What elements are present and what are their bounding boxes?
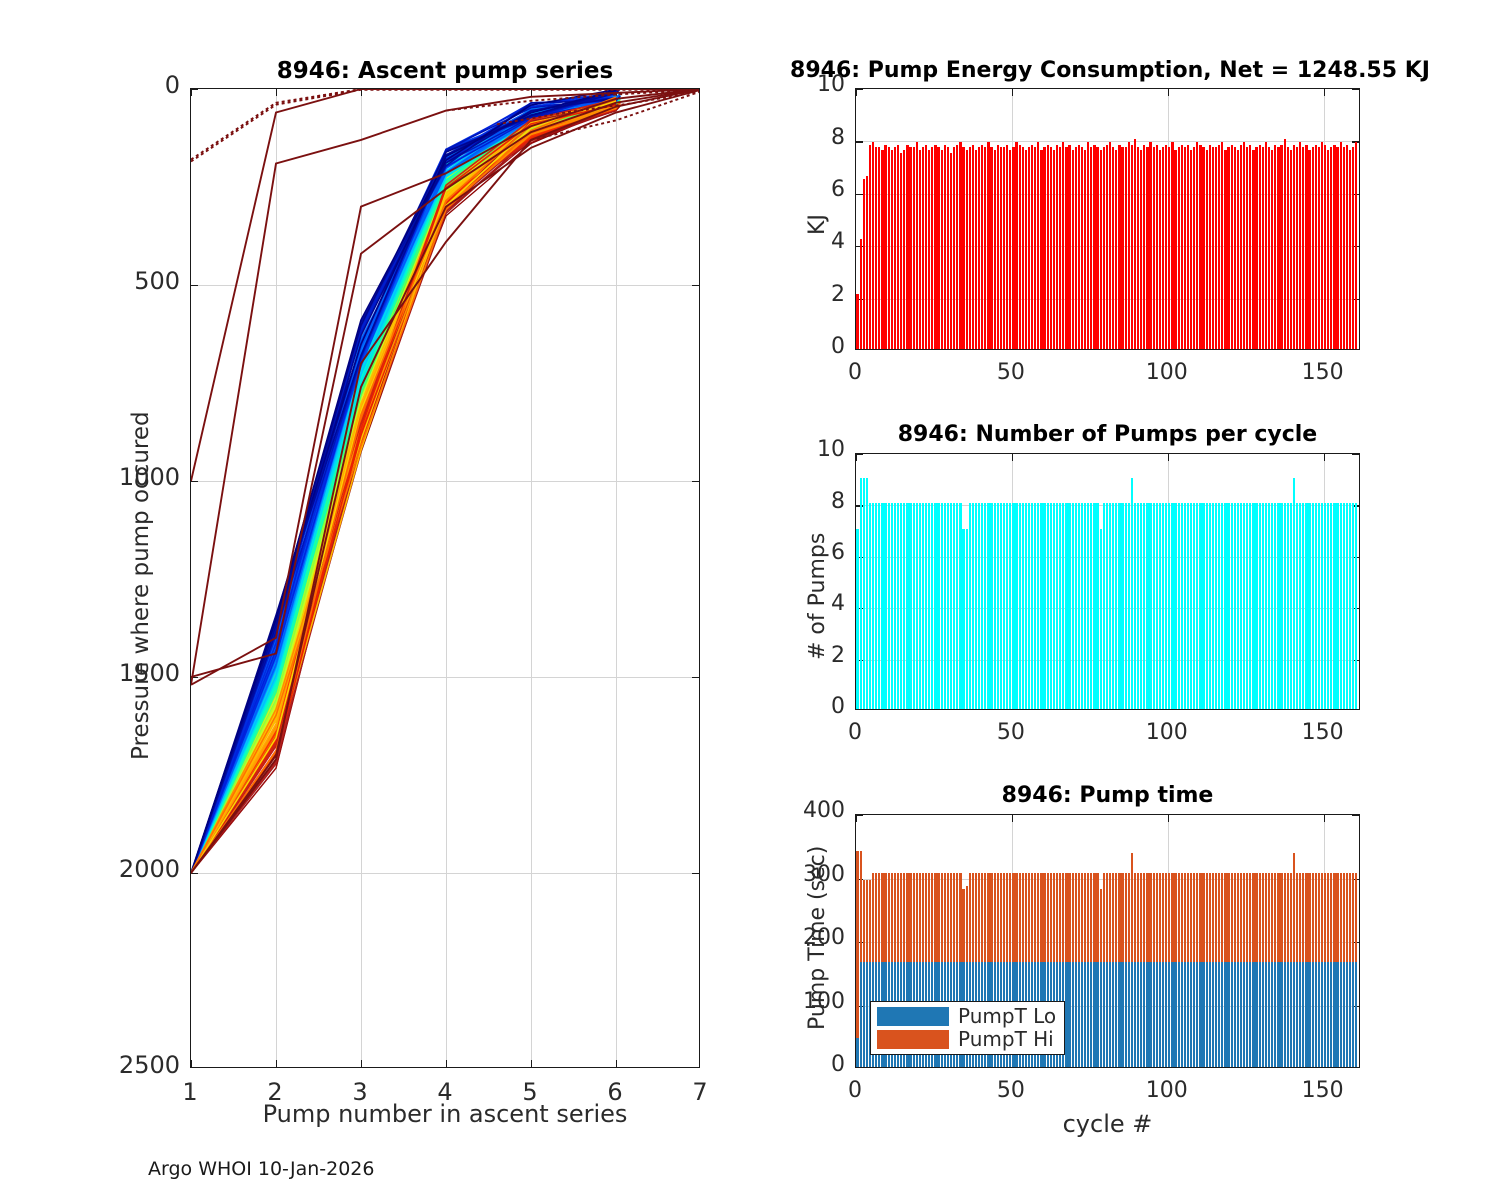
time-bar [1324, 873, 1326, 1067]
pumps-bar [897, 503, 899, 709]
time-bar [860, 851, 862, 1067]
energy-bar [1131, 145, 1133, 349]
pumps-bar [994, 503, 996, 709]
time-bar-segment-hi [1246, 873, 1248, 962]
pumps-bar [1103, 503, 1105, 709]
time-bar [1121, 873, 1123, 1067]
time-bar-segment-lo [1087, 962, 1089, 1067]
energy-bar [928, 150, 930, 349]
pumps-bar [1352, 503, 1354, 709]
time-bar-segment-hi [1171, 873, 1173, 962]
energy-bar [860, 239, 862, 349]
energy-bar [1015, 142, 1017, 349]
energy-bar [888, 147, 890, 349]
pumps-bar [1296, 503, 1298, 709]
pumps-bar [872, 503, 874, 709]
pumps-bar [1140, 503, 1142, 709]
time-bar [1259, 873, 1261, 1067]
pumps-bar [1227, 503, 1229, 709]
ascent-ytick-label: 0 [60, 71, 180, 99]
time-bar-segment-lo [866, 962, 868, 1067]
time-bar-segment-lo [1143, 962, 1145, 1067]
pumps-bar [1109, 503, 1111, 709]
time-xlabel: cycle # [855, 1110, 1360, 1138]
energy-bar [1196, 142, 1198, 349]
time-bar-segment-lo [1249, 962, 1251, 1067]
time-bar-segment-lo [1234, 962, 1236, 1067]
time-bar-segment-hi [1134, 873, 1136, 962]
time-bar [1321, 873, 1323, 1067]
time-bar [1277, 873, 1279, 1067]
time-bar-segment-lo [1280, 962, 1282, 1067]
time-bar [1274, 873, 1276, 1067]
time-bar-segment-lo [1187, 962, 1189, 1067]
energy-bar [1199, 145, 1201, 349]
pumps-bar [1305, 503, 1307, 709]
energy-bar [1146, 147, 1148, 349]
time-bar-segment-hi [1006, 873, 1008, 962]
pumps-bar [1084, 503, 1086, 709]
energy-bar [1031, 145, 1033, 349]
pumps-bar [1206, 503, 1208, 709]
time-bar [1153, 873, 1155, 1067]
energy-ytick-label: 8 [725, 125, 845, 150]
time-bar [1315, 873, 1317, 1067]
time-bar-segment-hi [1065, 873, 1067, 962]
ascent-ytick-label: 1000 [60, 463, 180, 491]
time-bar-segment-hi [981, 873, 983, 962]
legend-row-pumpt-lo[interactable]: PumpT Lo [877, 1007, 1056, 1026]
time-bar [1178, 873, 1180, 1067]
energy-bar [1187, 145, 1189, 349]
pumps-bar [878, 503, 880, 709]
time-bar-segment-hi [1140, 873, 1142, 962]
time-bar-segment-hi [1221, 873, 1223, 962]
time-bar-segment-hi [928, 873, 930, 962]
time-bar-segment-hi [934, 873, 936, 962]
pumps-plot-area[interactable] [855, 453, 1360, 710]
time-bar-segment-hi [1274, 873, 1276, 962]
time-bar-segment-lo [1333, 962, 1335, 1067]
time-bar-segment-lo [1299, 962, 1301, 1067]
time-bar-segment-hi [944, 873, 946, 962]
time-bar-segment-lo [1118, 962, 1120, 1067]
time-bar-segment-hi [1181, 873, 1183, 962]
pumps-bar [1274, 503, 1276, 709]
pumps-bar [1249, 503, 1251, 709]
time-bar [866, 880, 868, 1067]
energy-bar [1081, 147, 1083, 349]
energy-bar [913, 147, 915, 349]
pumps-bar [1137, 503, 1139, 709]
time-bar [1078, 873, 1080, 1067]
energy-bar [1078, 145, 1080, 349]
time-bar-segment-hi [1015, 873, 1017, 962]
time-bar [1333, 873, 1335, 1067]
time-bar-segment-hi [1081, 873, 1083, 962]
pumps-bar [984, 503, 986, 709]
time-bar [1171, 873, 1173, 1067]
time-bar [856, 851, 858, 1067]
time-bar-segment-lo [1165, 962, 1167, 1067]
time-bar-segment-hi [1043, 873, 1045, 962]
energy-bar [1202, 147, 1204, 349]
time-bar [1143, 873, 1145, 1067]
time-bar [1249, 873, 1251, 1067]
energy-bar [969, 147, 971, 349]
energy-bar [1240, 145, 1242, 349]
energy-bar [966, 150, 968, 349]
energy-bar [1355, 142, 1357, 349]
pumps-bar [1262, 503, 1264, 709]
pumps-bar [1312, 503, 1314, 709]
energy-plot-area[interactable] [855, 88, 1360, 350]
time-bar-segment-lo [1259, 962, 1261, 1067]
pumps-bar [1246, 503, 1248, 709]
pumps-bar [1159, 503, 1161, 709]
ascent-profile-line [191, 89, 700, 481]
pumps-ytick-label: 8 [725, 489, 845, 514]
time-bar-segment-hi [903, 873, 905, 962]
time-bar-segment-hi [860, 851, 862, 962]
pump-time-legend[interactable]: PumpT Lo PumpT Hi [870, 1001, 1065, 1055]
time-bar-segment-hi [1112, 873, 1114, 962]
energy-bar [1068, 145, 1070, 349]
time-bar-segment-hi [997, 873, 999, 962]
time-bar-segment-lo [1202, 962, 1204, 1067]
time-bar-segment-lo [1206, 962, 1208, 1067]
time-bar-segment-hi [1178, 873, 1180, 962]
pumps-bar [1034, 503, 1036, 709]
energy-bar [1065, 147, 1067, 349]
pumps-bar [881, 503, 883, 709]
energy-bar [1112, 147, 1114, 349]
time-bar-segment-hi [909, 873, 911, 962]
pumps-bar [863, 478, 865, 709]
time-bar [1159, 873, 1161, 1067]
legend-swatch-pumpt-hi [877, 1030, 949, 1049]
pumps-bar [1037, 503, 1039, 709]
time-bar [1134, 873, 1136, 1067]
pumps-bar [1050, 503, 1052, 709]
time-bar-segment-hi [1308, 873, 1310, 962]
time-bar [1165, 873, 1167, 1067]
pumps-bar [1343, 503, 1345, 709]
time-bar-segment-lo [1100, 962, 1102, 1067]
pumps-bar [1090, 503, 1092, 709]
pumps-bar [913, 503, 915, 709]
pumps-bar [900, 503, 902, 709]
energy-bar [1268, 147, 1270, 349]
pumps-bar [1327, 503, 1329, 709]
pumps-xtick-label: 50 [971, 720, 1051, 745]
energy-bar [1349, 150, 1351, 349]
time-bar-segment-hi [1312, 873, 1314, 962]
energy-bar [1062, 142, 1064, 349]
time-bar-segment-hi [969, 873, 971, 962]
energy-bar [1212, 147, 1214, 349]
pumps-bar [1209, 503, 1211, 709]
energy-bar [1234, 147, 1236, 349]
time-bar-segment-lo [1115, 962, 1117, 1067]
time-bar-segment-hi [950, 873, 952, 962]
pumps-ytick-label: 6 [725, 540, 845, 565]
ascent-ytick-label: 2500 [60, 1051, 180, 1079]
ascent-xtick-label: 3 [320, 1078, 400, 1106]
time-bar-segment-lo [863, 962, 865, 1067]
time-bar-segment-lo [1305, 962, 1307, 1067]
pumps-bar [869, 503, 871, 709]
pumps-bar [1302, 503, 1304, 709]
ascent-xtick-label: 6 [575, 1078, 655, 1106]
pumps-bar [959, 503, 961, 709]
time-bar-segment-hi [1234, 873, 1236, 962]
time-bar-segment-lo [1209, 962, 1211, 1067]
time-bar-segment-lo [1171, 962, 1173, 1067]
ascent-panel-title: 8946: Ascent pump series [190, 58, 700, 84]
time-bar-segment-hi [1165, 873, 1167, 962]
time-bar [1343, 873, 1345, 1067]
pumps-bar [906, 503, 908, 709]
pumps-bar [1193, 503, 1195, 709]
time-bar-segment-lo [1218, 962, 1220, 1067]
time-bar-segment-lo [1072, 962, 1074, 1067]
time-bar [1327, 873, 1329, 1067]
time-bar-segment-lo [1131, 962, 1133, 1067]
energy-bar [1043, 147, 1045, 349]
energy-bar [1143, 145, 1145, 349]
time-bar-segment-lo [1168, 962, 1170, 1067]
time-bar-segment-hi [1174, 873, 1176, 962]
pumps-bar [966, 529, 968, 709]
time-bar-segment-lo [1068, 962, 1070, 1067]
energy-ytick-label: 6 [725, 177, 845, 202]
time-bar-segment-hi [1106, 873, 1108, 962]
time-bar-segment-lo [1343, 962, 1345, 1067]
time-bar [1087, 873, 1089, 1067]
time-bar-segment-lo [1215, 962, 1217, 1067]
pumps-bar [975, 503, 977, 709]
energy-bar [1312, 147, 1314, 349]
pumps-bar [1019, 503, 1021, 709]
time-bar-segment-hi [1143, 873, 1145, 962]
time-bar-segment-hi [1168, 873, 1170, 962]
time-bar-segment-hi [1280, 873, 1282, 962]
time-bar-segment-hi [897, 873, 899, 962]
time-bar-segment-hi [1019, 873, 1021, 962]
energy-bar [1174, 150, 1176, 349]
energy-bar [1327, 150, 1329, 349]
pumps-bar [1184, 503, 1186, 709]
time-bar-segment-lo [1265, 962, 1267, 1067]
pumps-panel-title: 8946: Number of Pumps per cycle [855, 422, 1360, 447]
time-bar-segment-hi [1025, 873, 1027, 962]
time-bar-segment-lo [1352, 962, 1354, 1067]
time-bar-segment-hi [1162, 873, 1164, 962]
energy-bar [1134, 139, 1136, 349]
pumps-bar [1299, 503, 1301, 709]
time-bar [1112, 873, 1114, 1067]
pumps-bar [1053, 503, 1055, 709]
pumps-bar [1252, 503, 1254, 709]
energy-panel-title: 8946: Pump Energy Consumption, Net = 124… [760, 58, 1460, 83]
energy-bar [866, 176, 868, 349]
ascent-plot-area[interactable] [190, 88, 700, 1068]
energy-bar [1109, 142, 1111, 349]
time-bar [1340, 873, 1342, 1067]
energy-bar [1009, 150, 1011, 349]
time-bar-segment-hi [1293, 853, 1295, 962]
energy-bar [1190, 150, 1192, 349]
time-bar-segment-lo [1174, 962, 1176, 1067]
time-bar-segment-lo [1252, 962, 1254, 1067]
ascent-ytick-label: 500 [60, 267, 180, 295]
pumps-bar [1096, 503, 1098, 709]
time-bar-segment-hi [1277, 873, 1279, 962]
pumps-bar [997, 503, 999, 709]
time-bar-segment-lo [1271, 962, 1273, 1067]
time-bar-segment-hi [1059, 873, 1061, 962]
time-bar [1271, 873, 1273, 1067]
pumps-bar [944, 503, 946, 709]
time-bar [1196, 873, 1198, 1067]
time-xtick-label: 0 [815, 1078, 895, 1103]
energy-bar [1284, 139, 1286, 349]
energy-bar [1330, 147, 1332, 349]
time-panel-title: 8946: Pump time [855, 783, 1360, 808]
footer-credit: Argo WHOI 10-Jan-2026 [148, 1158, 374, 1180]
time-ytick-label: 0 [725, 1052, 845, 1077]
time-bar-segment-lo [860, 962, 862, 1067]
time-bar-segment-lo [1162, 962, 1164, 1067]
pumps-ytick-label: 10 [725, 437, 845, 462]
time-bar-segment-lo [1255, 962, 1257, 1067]
time-bar-segment-hi [1156, 873, 1158, 962]
pumps-bar [1290, 503, 1292, 709]
time-bar [1193, 873, 1195, 1067]
time-bar-segment-lo [1128, 962, 1130, 1067]
time-bar-segment-lo [1221, 962, 1223, 1067]
time-bar [1221, 873, 1223, 1067]
energy-bar [1343, 147, 1345, 349]
pumps-bar [1293, 478, 1295, 709]
ascent-xtick-label: 4 [405, 1078, 485, 1106]
time-bar-segment-hi [937, 873, 939, 962]
legend-row-pumpt-hi[interactable]: PumpT Hi [877, 1030, 1056, 1049]
energy-bar [1178, 147, 1180, 349]
pumps-bar [953, 503, 955, 709]
pumps-bar [1234, 503, 1236, 709]
energy-bar [884, 145, 886, 349]
pumps-bar [1062, 503, 1064, 709]
time-bar-segment-hi [1352, 873, 1354, 962]
pumps-bar [1215, 503, 1217, 709]
time-bar [1299, 873, 1301, 1067]
ascent-lines [191, 89, 700, 1068]
time-bar [1081, 873, 1083, 1067]
time-bar-segment-hi [1209, 873, 1211, 962]
energy-bar [1231, 145, 1233, 349]
time-bar-segment-hi [978, 873, 980, 962]
energy-bar [909, 147, 911, 349]
pumps-bar [1212, 503, 1214, 709]
time-bar-segment-hi [1184, 873, 1186, 962]
time-bar [1287, 873, 1289, 1067]
pumps-bar [1199, 503, 1201, 709]
energy-bar [1324, 145, 1326, 349]
pumps-bar [1056, 503, 1058, 709]
time-xtick-label: 150 [1283, 1078, 1363, 1103]
energy-bar [1168, 147, 1170, 349]
energy-xtick-label: 100 [1127, 360, 1207, 385]
time-bar-segment-hi [906, 873, 908, 962]
pumps-bar [1277, 503, 1279, 709]
time-bar-segment-lo [1153, 962, 1155, 1067]
time-bar-segment-lo [1159, 962, 1161, 1067]
energy-bar [1255, 147, 1257, 349]
time-bar-segment-lo [1237, 962, 1239, 1067]
energy-bar [1308, 150, 1310, 349]
time-bar-segment-lo [1181, 962, 1183, 1067]
ascent-xtick-label: 7 [660, 1078, 740, 1106]
energy-bar [962, 147, 964, 349]
time-bar-segment-lo [1125, 962, 1127, 1067]
time-bar-segment-hi [1327, 873, 1329, 962]
energy-bar [950, 153, 952, 350]
energy-bar [990, 147, 992, 349]
time-bar-segment-hi [1243, 873, 1245, 962]
energy-bar [984, 147, 986, 349]
time-bar-segment-lo [1084, 962, 1086, 1067]
energy-bar [1224, 150, 1226, 349]
pumps-bar [937, 503, 939, 709]
time-bar [1100, 889, 1102, 1067]
time-bar-segment-hi [891, 873, 893, 962]
time-bar-segment-hi [1315, 873, 1317, 962]
pumps-bar [1224, 503, 1226, 709]
time-bar [1090, 873, 1092, 1067]
energy-bar [1290, 150, 1292, 349]
time-bar-segment-hi [1196, 873, 1198, 962]
time-bar-segment-hi [1340, 873, 1342, 962]
time-bar-segment-lo [1199, 962, 1201, 1067]
pumps-bar [1003, 503, 1005, 709]
energy-ytick-label: 2 [725, 282, 845, 307]
time-bar-segment-hi [894, 873, 896, 962]
energy-bar [1093, 145, 1095, 349]
time-bar [1237, 873, 1239, 1067]
pumps-bar [922, 503, 924, 709]
energy-bar [1034, 147, 1036, 349]
time-bar-segment-lo [1349, 962, 1351, 1067]
energy-bar [1153, 147, 1155, 349]
energy-bar [869, 145, 871, 349]
time-plot-area[interactable]: PumpT Lo PumpT Hi [855, 814, 1360, 1068]
time-bar [1065, 873, 1067, 1067]
time-xtick-label: 50 [971, 1078, 1051, 1103]
pumps-bar [1259, 503, 1261, 709]
pumps-bar [1315, 503, 1317, 709]
pumps-bar [1115, 503, 1117, 709]
time-bar-segment-lo [1340, 962, 1342, 1067]
time-bar-segment-hi [1302, 873, 1304, 962]
ascent-profile-line [191, 101, 616, 873]
pumps-bar [1009, 503, 1011, 709]
pumps-bar [1190, 503, 1192, 709]
energy-bar [1128, 142, 1130, 349]
time-bar-segment-hi [941, 873, 943, 962]
ascent-xtick-label: 2 [235, 1078, 315, 1106]
